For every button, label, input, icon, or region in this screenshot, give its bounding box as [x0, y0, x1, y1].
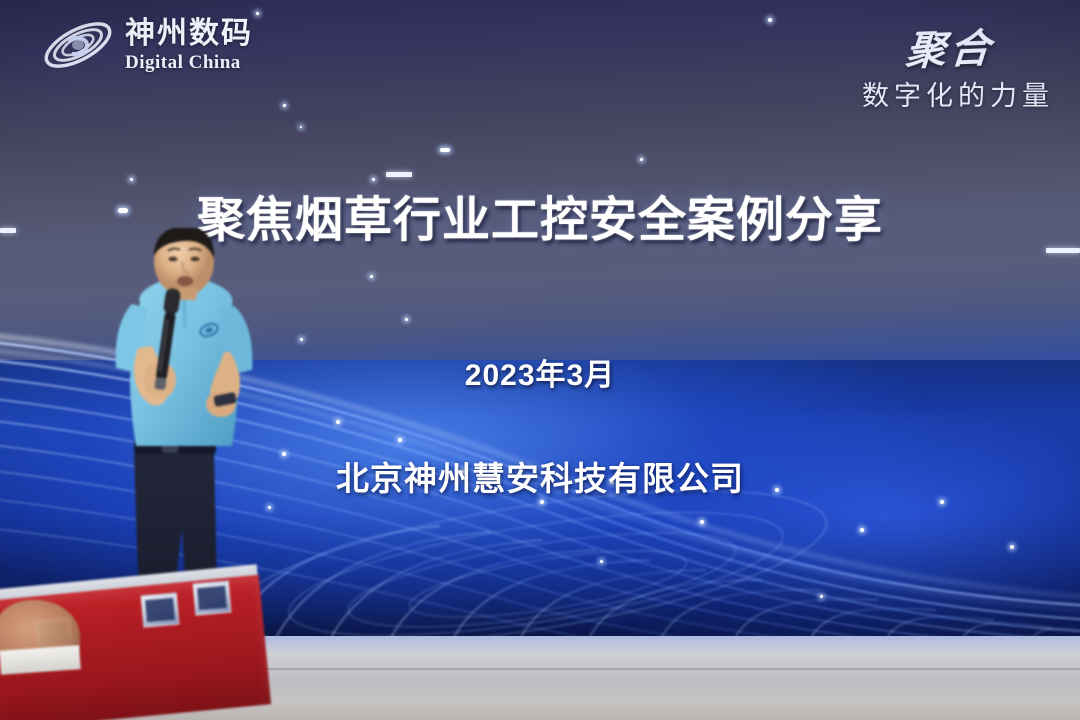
- slogan-sub-text: 数字化的力量: [862, 74, 1054, 113]
- particle-dot: [300, 126, 302, 128]
- particle-dot: [283, 104, 286, 107]
- name-card-face: [145, 598, 175, 622]
- particle-dot: [256, 12, 259, 15]
- particle-dot: [600, 560, 603, 563]
- name-card-holder: [141, 592, 180, 627]
- particle-dot: [820, 595, 823, 598]
- digital-china-swirl-logo-icon: [40, 14, 116, 76]
- particle-dot: [440, 148, 450, 152]
- particle-dot: [300, 338, 303, 341]
- digital-china-logo: 神州数码 Digital China: [40, 14, 253, 76]
- particle-dot: [640, 158, 643, 161]
- particle-dot: [398, 438, 402, 442]
- particle-dot: [405, 318, 408, 321]
- particle-dot: [1010, 545, 1014, 549]
- logo-chinese-name: 神州数码: [125, 19, 253, 49]
- particle-dot: [370, 275, 373, 278]
- particle-dot: [336, 420, 340, 424]
- event-slogan: 聚合 数字化的力量: [862, 18, 1054, 113]
- particle-dot: [768, 18, 772, 22]
- presentation-stage-photo: 神州数码 Digital China 聚合 数字化的力量 聚焦烟草行业工控安全案…: [0, 0, 1080, 720]
- particle-dot: [700, 520, 704, 524]
- name-card-holder: [193, 580, 232, 615]
- name-card-face: [197, 586, 227, 610]
- logo-english-name: Digital China: [125, 53, 253, 72]
- particle-dot: [940, 500, 944, 504]
- particle-dot: [540, 500, 544, 504]
- decorative-tick: [386, 172, 412, 177]
- slogan-brush-text: 聚合: [860, 16, 996, 79]
- particle-dot: [860, 528, 864, 532]
